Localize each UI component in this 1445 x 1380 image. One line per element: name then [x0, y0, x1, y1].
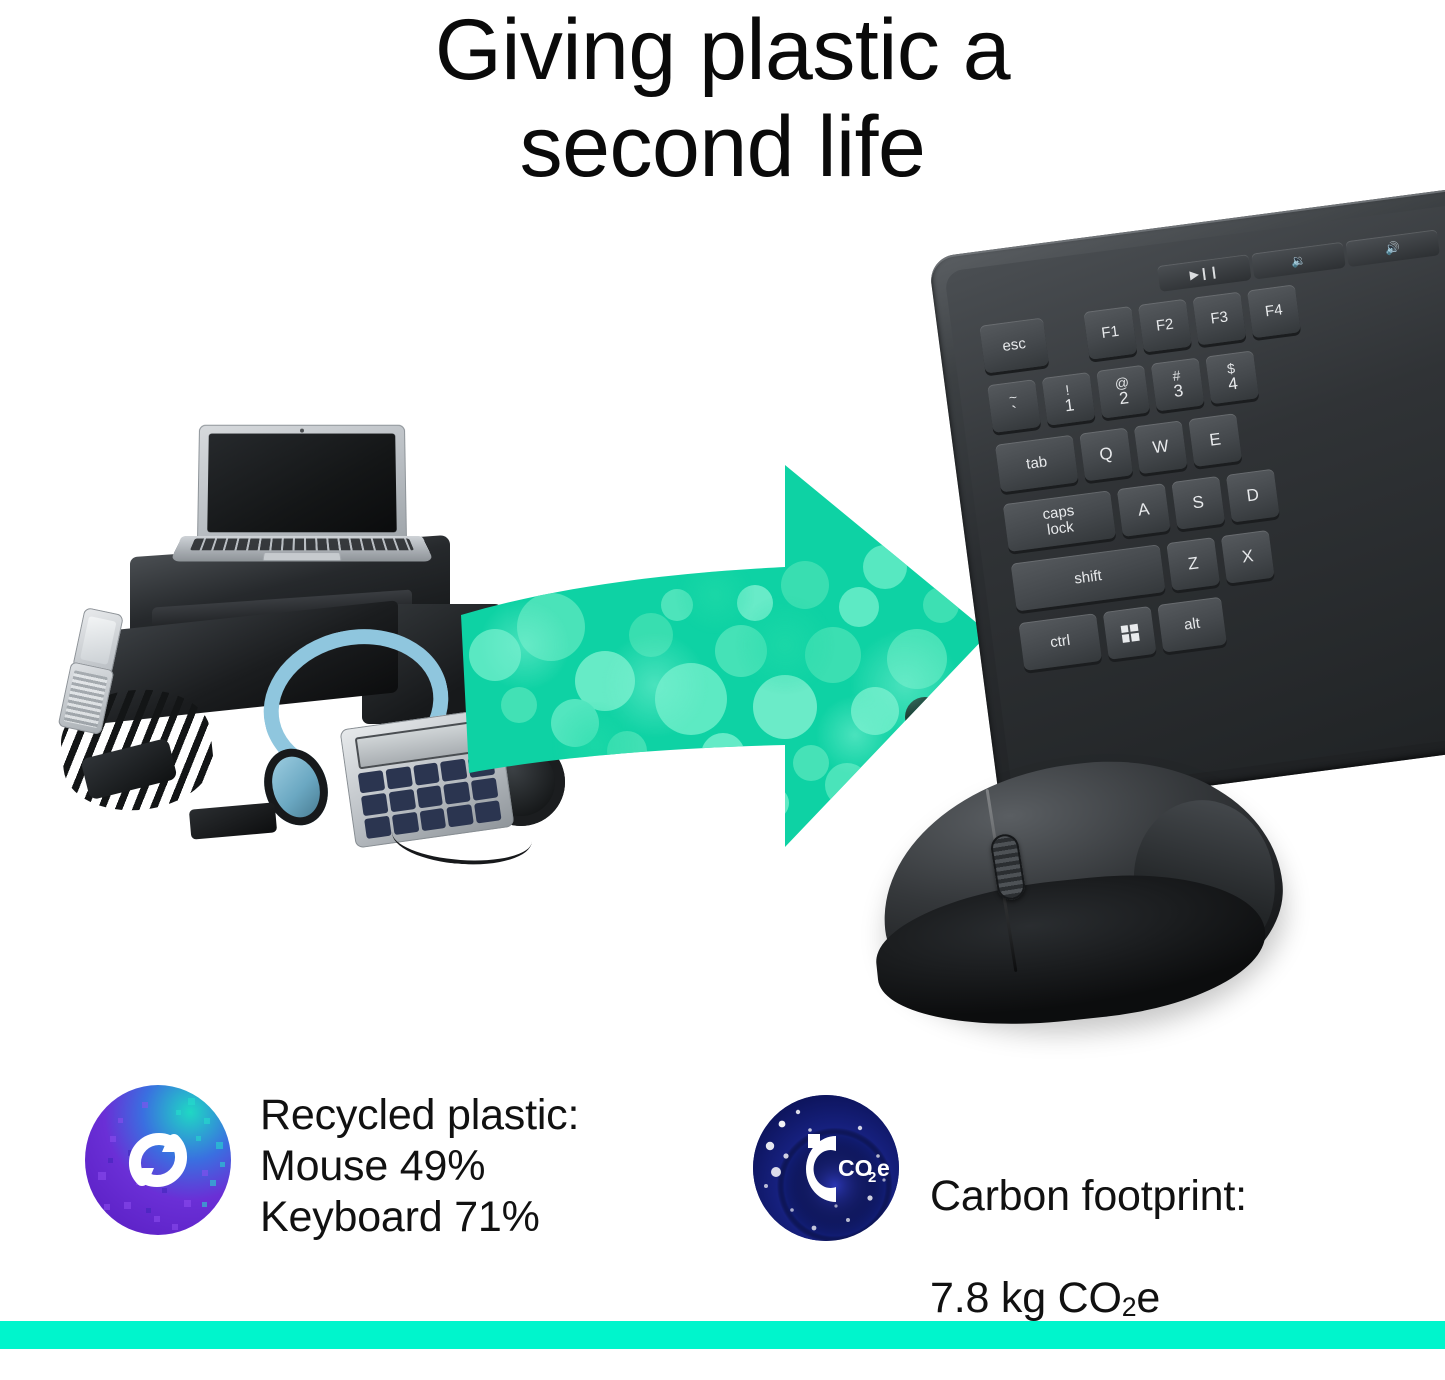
- laptop-base: [170, 536, 434, 561]
- recycled-plastic-badge: Recycled plastic: Mouse 49% Keyboard 71%: [84, 1084, 579, 1243]
- volume-up-icon[interactable]: 🔊: [1345, 229, 1440, 267]
- key-x[interactable]: X: [1221, 530, 1275, 584]
- key-f2[interactable]: F2: [1138, 299, 1192, 353]
- headline-line-2: second life: [0, 99, 1445, 196]
- key-3[interactable]: # 3: [1151, 358, 1205, 412]
- laptop-trackpad: [262, 552, 341, 560]
- key-4[interactable]: $ 4: [1205, 350, 1259, 404]
- laptop-webcam-icon: [300, 429, 304, 433]
- key-e[interactable]: E: [1188, 413, 1242, 467]
- key-alt[interactable]: alt: [1157, 597, 1227, 653]
- carbon-value-suffix: e: [1136, 1274, 1160, 1322]
- carbon-footprint-icon: CO 2 e: [752, 1094, 900, 1242]
- keyboard-deck: ▶❙❙ 🔉 🔊 esc F1 F2 F3 F4 ~ `: [944, 197, 1445, 797]
- volume-down-icon[interactable]: 🔉: [1251, 242, 1346, 280]
- sustainability-badges: Recycled plastic: Mouse 49% Keyboard 71%: [0, 1078, 1445, 1278]
- product-marketing-image: Giving plastic a second life: [0, 0, 1445, 1349]
- keyboard-chassis: ▶❙❙ 🔉 🔊 esc F1 F2 F3 F4 ~ `: [928, 180, 1445, 814]
- page-title: Giving plastic a second life: [0, 2, 1445, 196]
- key-2-upper: @: [1114, 375, 1130, 391]
- laptop-lid: [197, 425, 407, 545]
- media-key-row: ▶❙❙ 🔉 🔊: [1157, 229, 1440, 292]
- key-z[interactable]: Z: [1166, 537, 1220, 591]
- windows-icon: [1120, 623, 1139, 642]
- key-q[interactable]: Q: [1079, 427, 1133, 481]
- key-ctrl[interactable]: ctrl: [1018, 613, 1102, 671]
- key-backtick-upper: ~: [1008, 389, 1018, 405]
- key-4-lower: 4: [1227, 375, 1239, 394]
- key-a[interactable]: A: [1117, 483, 1171, 537]
- usb-drive: [189, 802, 277, 839]
- carbon-value-subscript: 2: [1122, 1292, 1137, 1322]
- key-s[interactable]: S: [1171, 476, 1225, 530]
- svg-text:2: 2: [868, 1169, 876, 1186]
- carbon-footprint-icon-svg: CO 2 e: [752, 1094, 900, 1242]
- key-w[interactable]: W: [1134, 420, 1188, 474]
- old-laptop: [182, 424, 422, 574]
- recycled-plastic-text: Recycled plastic: Mouse 49% Keyboard 71%: [260, 1084, 579, 1243]
- svg-text:e: e: [877, 1155, 890, 1181]
- wireless-mouse: [872, 748, 1292, 1038]
- key-caps-lock[interactable]: caps lock: [1003, 490, 1116, 552]
- media-play-pause-icon[interactable]: ▶❙❙: [1157, 254, 1252, 292]
- recycle-icon: [84, 1084, 232, 1236]
- key-f4[interactable]: F4: [1247, 284, 1301, 338]
- key-3-upper: #: [1171, 368, 1182, 384]
- key-1-lower: 1: [1064, 397, 1076, 416]
- headline-line-1: Giving plastic a: [435, 2, 1010, 98]
- carbon-value-prefix: 7.8 kg CO: [930, 1274, 1122, 1322]
- key-2[interactable]: @ 2: [1096, 365, 1150, 419]
- key-1[interactable]: ! 1: [1042, 372, 1096, 426]
- key-backtick[interactable]: ~ `: [987, 379, 1041, 433]
- key-f3[interactable]: F3: [1192, 292, 1246, 346]
- recycle-icon-svg: [84, 1084, 232, 1236]
- key-esc[interactable]: esc: [979, 318, 1049, 374]
- key-4-upper: $: [1225, 361, 1236, 377]
- laptop-screen: [207, 434, 397, 533]
- carbon-footprint-line-1: Carbon footprint:: [930, 1171, 1247, 1222]
- key-backtick-lower: `: [1010, 404, 1020, 423]
- laptop-keyboard: [190, 539, 414, 551]
- key-1-upper: !: [1062, 382, 1073, 398]
- bottom-accent-bar: [0, 1321, 1445, 1349]
- modifier-key-row: ctrl alt: [1018, 597, 1227, 671]
- key-d[interactable]: D: [1226, 469, 1280, 523]
- key-windows[interactable]: [1103, 606, 1157, 660]
- key-shift[interactable]: shift: [1011, 544, 1166, 611]
- key-3-lower: 3: [1173, 382, 1185, 401]
- key-tab[interactable]: tab: [995, 435, 1079, 493]
- key-2-lower: 2: [1116, 389, 1132, 409]
- key-f1[interactable]: F1: [1083, 306, 1137, 360]
